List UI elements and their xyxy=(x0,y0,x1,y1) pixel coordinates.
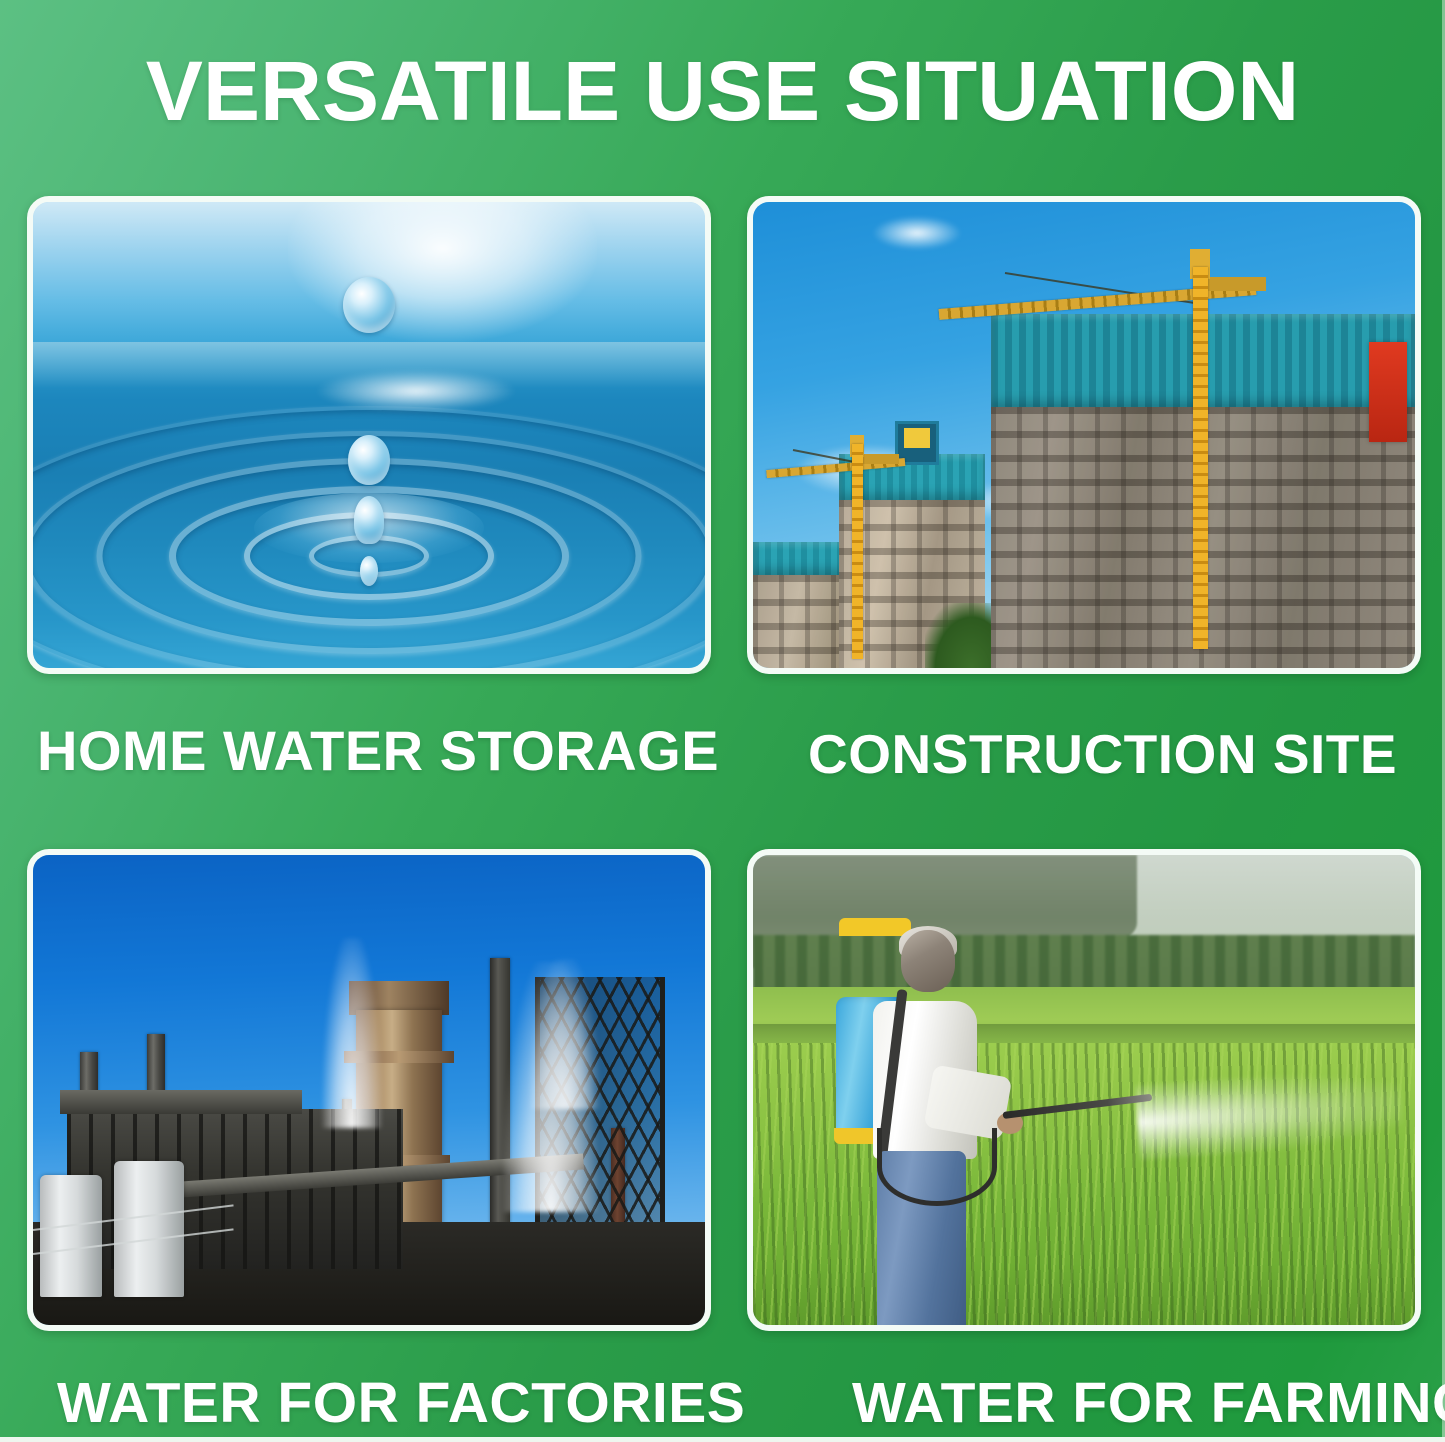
caption-construction-site: CONSTRUCTION SITE xyxy=(808,722,1397,786)
building-facade xyxy=(753,575,846,668)
poster-root: VERSATILE USE SITUATION HOME WATER STORA… xyxy=(0,0,1445,1442)
farming-photo xyxy=(753,855,1415,1325)
panel-water-for-farming[interactable] xyxy=(747,849,1421,1331)
plant-roof xyxy=(60,1090,302,1114)
water-droplet-lower xyxy=(360,556,378,586)
panel-home-water-storage[interactable] xyxy=(27,196,711,674)
caption-home-water-storage: HOME WATER STORAGE xyxy=(37,718,719,783)
safety-netting xyxy=(753,542,846,575)
water-droplet-airborne xyxy=(343,277,395,333)
caption-water-for-farming: WATER FOR FARMING xyxy=(852,1370,1445,1436)
crane-counterweight xyxy=(859,454,899,464)
steam-plume xyxy=(322,938,382,1128)
crane-counterweight xyxy=(1206,277,1266,291)
storage-tank xyxy=(40,1175,102,1297)
crane-mast xyxy=(852,444,863,658)
bottom-edge-strip xyxy=(0,1437,1445,1442)
water-droplet-middle xyxy=(348,435,390,485)
caption-water-for-factories: WATER FOR FACTORIES xyxy=(57,1370,745,1436)
water-drop-photo xyxy=(33,202,705,668)
crane-mast xyxy=(1193,267,1208,649)
cloud xyxy=(872,216,962,250)
steam-plume xyxy=(530,959,600,1109)
farmer xyxy=(839,930,1011,1325)
panel-water-for-factories[interactable] xyxy=(27,849,711,1331)
building-left xyxy=(753,575,846,668)
farmer-head xyxy=(901,930,955,992)
red-banner xyxy=(1369,342,1407,442)
page-title: VERSATILE USE SITUATION xyxy=(0,48,1445,134)
sprayer-hose xyxy=(877,1128,997,1206)
water-droplet-column xyxy=(354,496,384,544)
panel-construction-site[interactable] xyxy=(747,196,1421,674)
construction-site-photo xyxy=(753,202,1415,668)
sun-glow xyxy=(288,196,597,342)
factory-photo xyxy=(33,855,705,1325)
storage-tank xyxy=(114,1161,184,1297)
sprayer-pump-top xyxy=(839,918,911,936)
